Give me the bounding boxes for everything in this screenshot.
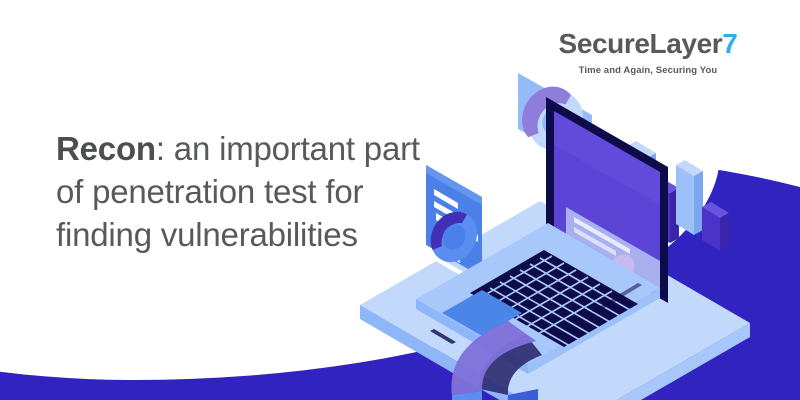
logo-wordmark: SecureLayer7 — [538, 30, 758, 58]
headline-lead: Recon — [56, 130, 156, 167]
banner-root: Recon: an important part of penetration … — [0, 0, 800, 400]
logo-name: SecureLayer — [559, 28, 723, 59]
logo-tagline: Time and Again, Securing You — [538, 65, 758, 76]
brand-logo[interactable]: SecureLayer7 Time and Again, Securing Yo… — [538, 30, 758, 76]
page-title: Recon: an important part of penetration … — [56, 128, 426, 257]
logo-seven: 7 — [722, 28, 737, 59]
